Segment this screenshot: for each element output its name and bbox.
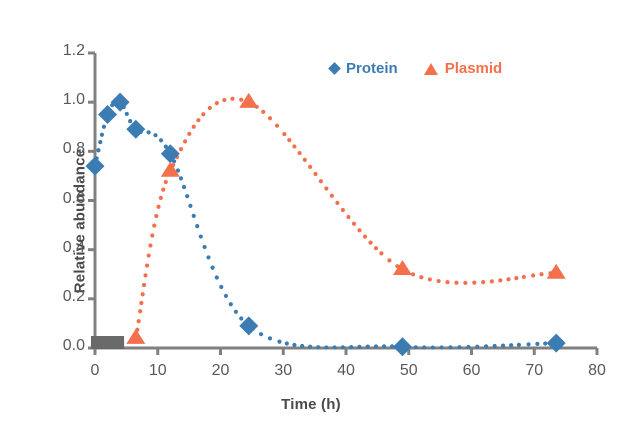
data-point xyxy=(547,264,566,279)
series-markers-protein xyxy=(86,93,566,357)
triangle-marker-icon xyxy=(424,63,438,75)
y-tick-label: 0.6 xyxy=(30,190,85,208)
diamond-marker-icon xyxy=(328,62,341,75)
legend-item-protein: Protein xyxy=(330,60,398,77)
data-point xyxy=(126,329,145,344)
y-axis-title: Relative abundance xyxy=(72,148,89,292)
y-tick-label: 0.8 xyxy=(30,140,85,158)
y-tick-label: 1.0 xyxy=(30,91,85,109)
y-tick-label: 0.2 xyxy=(30,288,85,306)
x-tick-label: 50 xyxy=(379,362,439,380)
x-axis-title: Time (h) xyxy=(0,396,622,413)
x-tick-label: 70 xyxy=(504,362,564,380)
x-tick-label: 60 xyxy=(442,362,502,380)
x-tick-label: 20 xyxy=(191,362,251,380)
x-tick-label: 30 xyxy=(253,362,313,380)
chart-legend: Protein Plasmid xyxy=(330,60,502,77)
x-tick-label: 10 xyxy=(128,362,188,380)
y-tick-label: 1.2 xyxy=(30,42,85,60)
legend-label-protein: Protein xyxy=(346,60,398,77)
y-tick-label: 0.0 xyxy=(30,337,85,355)
series-line-protein xyxy=(93,99,556,349)
legend-item-plasmid: Plasmid xyxy=(424,60,503,77)
legend-label-plasmid: Plasmid xyxy=(445,60,503,77)
data-point xyxy=(111,93,130,112)
data-point xyxy=(161,144,180,163)
x-tick-label: 80 xyxy=(567,362,622,380)
chart-container: Relative abundance Time (h) Protein Plas… xyxy=(0,0,622,441)
series-line-plasmid xyxy=(134,97,553,341)
x-tick-label: 0 xyxy=(65,362,125,380)
data-point xyxy=(547,334,566,353)
data-point xyxy=(98,105,117,124)
y-tick-label: 0.4 xyxy=(30,239,85,257)
series-markers-plasmid xyxy=(126,93,565,344)
x-tick-label: 40 xyxy=(316,362,376,380)
